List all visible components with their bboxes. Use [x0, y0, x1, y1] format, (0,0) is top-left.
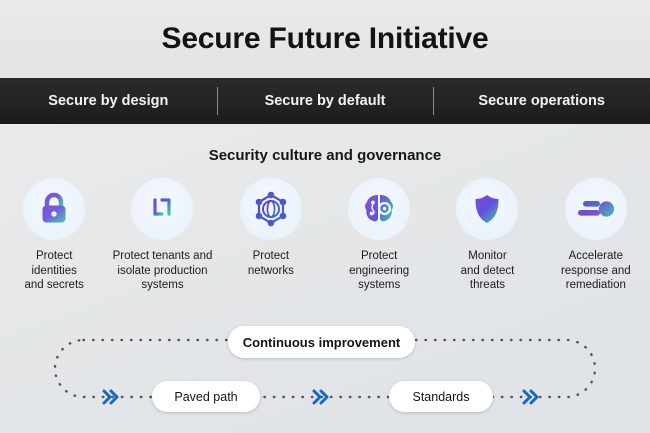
capability-label: Protect networks [215, 249, 327, 278]
network-globe-icon [251, 189, 291, 229]
pillar-label: Secure operations [478, 93, 605, 109]
continuous-improvement-loop: Continuous improvement Paved path Standa… [0, 318, 650, 433]
page-title: Secure Future Initiative [162, 22, 489, 56]
double-chevron-right-icon [521, 388, 541, 406]
pillar-secure-by-default[interactable]: Secure by default [217, 78, 434, 124]
speed-icon [575, 192, 617, 226]
governance-heading: Security culture and governance [0, 147, 650, 164]
shield-icon [468, 190, 506, 228]
icon-disc [348, 178, 410, 240]
brain-gear-icon [359, 189, 399, 229]
capability-icon-row: Protect identities and secrets Protect [0, 178, 650, 293]
pill-label: Standards [413, 390, 470, 404]
capability-protect-engineering[interactable]: Protect engineering systems [325, 178, 433, 293]
pill-paved-path[interactable]: Paved path [152, 381, 260, 412]
capability-protect-networks[interactable]: Protect networks [217, 178, 325, 293]
pill-continuous-improvement[interactable]: Continuous improvement [228, 326, 415, 358]
pillar-secure-operations[interactable]: Secure operations [433, 78, 650, 124]
icon-disc [240, 178, 302, 240]
title-band: Secure Future Initiative [0, 0, 650, 78]
pillar-bar: Secure by design Secure by default Secur… [0, 78, 650, 124]
pillar-secure-by-design[interactable]: Secure by design [0, 78, 217, 124]
capability-protect-tenants[interactable]: Protect tenants and isolate production s… [108, 178, 216, 293]
lock-icon [35, 190, 73, 228]
icon-disc [456, 178, 518, 240]
capability-label: Protect identities and secrets [0, 249, 110, 293]
pillar-label: Secure by design [48, 93, 168, 109]
pill-label: Paved path [174, 390, 237, 404]
icon-disc [23, 178, 85, 240]
capability-label: Accelerate response and remediation [540, 249, 650, 293]
capability-label: Protect engineering systems [323, 249, 435, 293]
capability-accelerate-response[interactable]: Accelerate response and remediation [542, 178, 650, 293]
tenant-isolation-icon [142, 190, 182, 228]
capability-label: Monitor and detect threats [431, 249, 543, 293]
double-chevron-right-icon [101, 388, 121, 406]
capability-monitor-detect[interactable]: Monitor and detect threats [433, 178, 541, 293]
pill-label: Continuous improvement [243, 335, 400, 350]
pill-standards[interactable]: Standards [389, 381, 493, 412]
pillar-label: Secure by default [265, 93, 386, 109]
icon-disc [131, 178, 193, 240]
double-chevron-right-icon [311, 388, 331, 406]
capability-label: Protect tenants and isolate production s… [107, 249, 219, 293]
icon-disc [565, 178, 627, 240]
capability-protect-identities[interactable]: Protect identities and secrets [0, 178, 108, 293]
